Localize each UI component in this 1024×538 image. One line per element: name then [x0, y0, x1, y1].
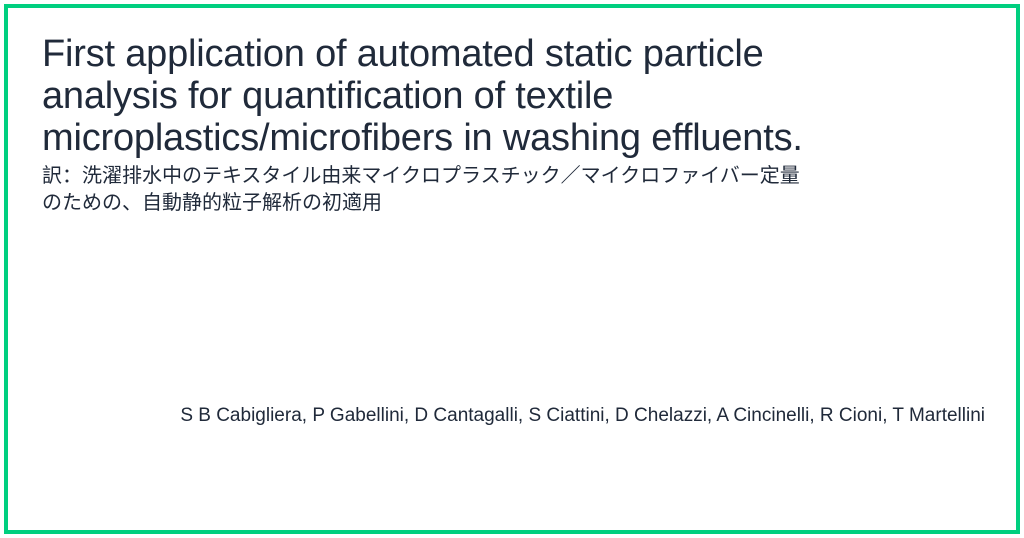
author-list: S B Cabigliera, P Gabellini, D Cantagall…: [42, 404, 985, 427]
paper-title-japanese-translation: 訳：洗濯排水中のテキスタイル由来マイクロプラスチック／マイクロファイバー定量 の…: [42, 159, 982, 216]
paper-title-english: First application of automated static pa…: [42, 33, 982, 159]
authors-block: S B Cabigliera, P Gabellini, D Cantagall…: [42, 404, 985, 427]
slide-content: First application of automated static pa…: [0, 0, 1024, 538]
title-block: First application of automated static pa…: [42, 33, 982, 216]
title-slide: First application of automated static pa…: [0, 0, 1024, 538]
